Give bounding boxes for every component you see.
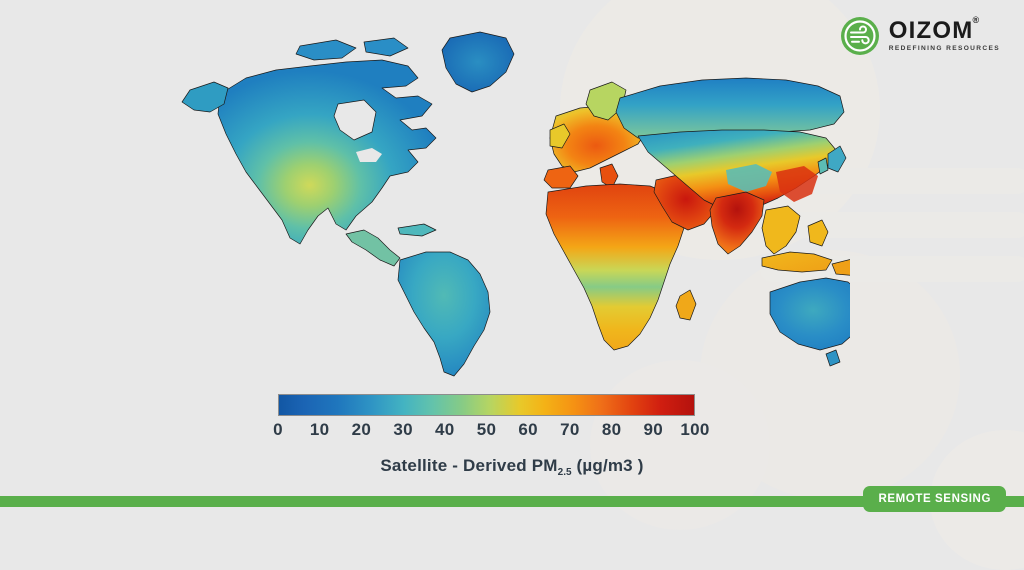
colorbar-ticks: 0 10 20 30 40 50 60 70 80 90 100 bbox=[278, 420, 695, 446]
colorbar-tick-label: 100 bbox=[680, 420, 709, 440]
trademark-symbol: ® bbox=[973, 16, 981, 25]
caption-units: (µg/m3 ) bbox=[577, 456, 644, 475]
chart-caption: Satellite - Derived PM2.5 (µg/m3 ) bbox=[0, 456, 1024, 476]
colorbar-tick-label: 70 bbox=[560, 420, 580, 440]
colorbar-tick-label: 80 bbox=[602, 420, 622, 440]
remote-sensing-badge: REMOTE SENSING bbox=[863, 486, 1006, 512]
world-map-svg bbox=[150, 20, 850, 380]
region-madagascar bbox=[676, 290, 696, 320]
region-arctic-islands bbox=[296, 40, 356, 60]
region-north-america bbox=[218, 60, 436, 244]
caption-main: Satellite - Derived PM bbox=[380, 456, 557, 475]
pm25-colorbar-legend: 0 10 20 30 40 50 60 70 80 90 100 bbox=[278, 394, 695, 446]
region-caribbean bbox=[398, 224, 436, 236]
brand-name-text: OIZOM bbox=[889, 17, 974, 44]
colorbar-tick-label: 10 bbox=[310, 420, 330, 440]
colorbar-tick-label: 0 bbox=[273, 420, 283, 440]
region-iberia bbox=[544, 166, 578, 188]
region-tasmania bbox=[826, 350, 840, 366]
region-south-america bbox=[398, 252, 490, 376]
brand-name: OIZOM® bbox=[889, 19, 974, 43]
region-southeast-asia bbox=[762, 206, 800, 254]
region-indonesia bbox=[762, 252, 832, 272]
region-india bbox=[710, 192, 764, 254]
colorbar-tick-label: 90 bbox=[644, 420, 664, 440]
region-africa bbox=[546, 184, 684, 350]
region-arctic-islands bbox=[364, 38, 408, 56]
brand-wordmark-group: OIZOM® REDEFINING RESOURCES bbox=[889, 19, 1000, 53]
region-philippines bbox=[808, 220, 828, 246]
colorbar-tick-label: 60 bbox=[518, 420, 538, 440]
region-new-guinea bbox=[832, 258, 850, 276]
region-central-america bbox=[346, 230, 400, 266]
world-pm25-map bbox=[150, 20, 850, 380]
brand-logo: OIZOM® REDEFINING RESOURCES bbox=[840, 16, 1000, 56]
colorbar-tick-label: 40 bbox=[435, 420, 455, 440]
colorbar-tick-label: 50 bbox=[477, 420, 497, 440]
colorbar-tick-label: 30 bbox=[393, 420, 413, 440]
colorbar-tick-label: 20 bbox=[352, 420, 372, 440]
colorbar-gradient bbox=[278, 394, 695, 416]
region-greenland bbox=[442, 32, 514, 92]
caption-subscript: 2.5 bbox=[558, 467, 572, 478]
region-australia bbox=[770, 278, 850, 350]
region-siberia bbox=[616, 78, 844, 138]
brand-tagline: REDEFINING RESOURCES bbox=[889, 46, 1000, 53]
